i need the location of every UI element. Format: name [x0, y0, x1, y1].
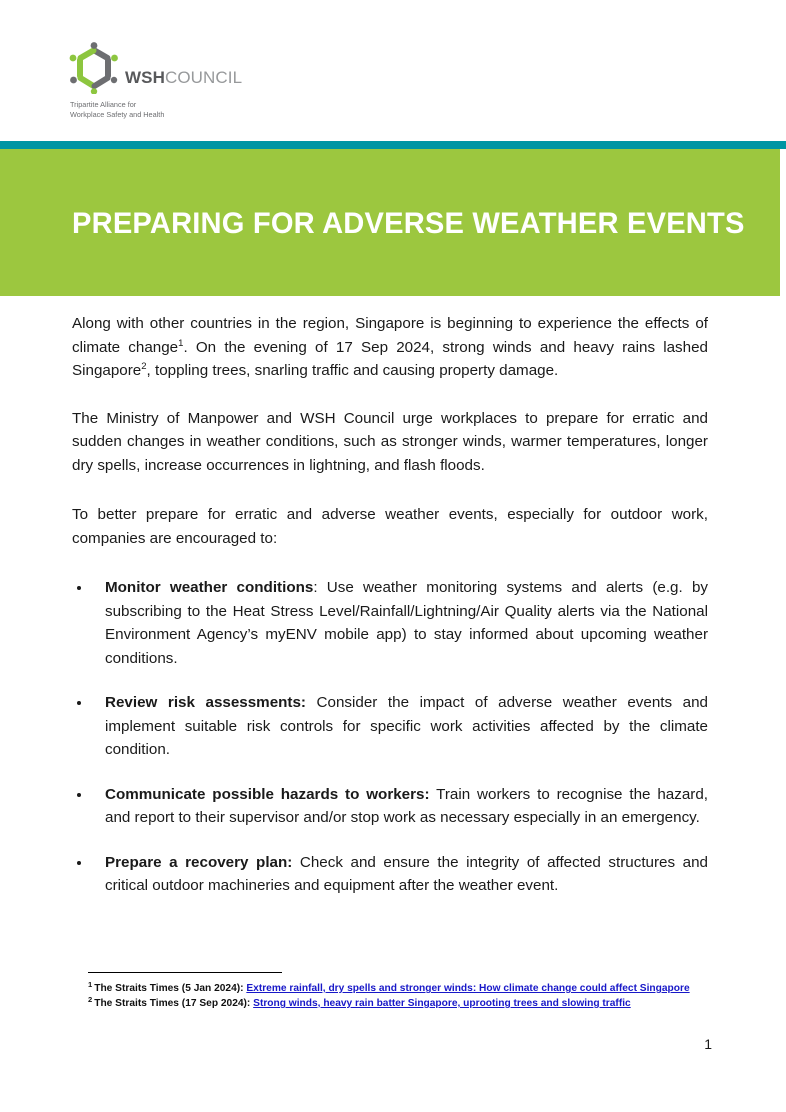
- teal-accent-bar: [0, 141, 786, 149]
- footnote-2-marker: 2: [88, 995, 92, 1004]
- footnote-1-link[interactable]: Extreme rainfall, dry spells and stronge…: [246, 983, 689, 994]
- logo-row: WSHCOUNCIL: [68, 38, 348, 94]
- footnote-1-marker: 1: [88, 980, 92, 989]
- footnote-1: 1The Straits Times (5 Jan 2024): Extreme…: [88, 981, 708, 996]
- wordmark-bold: WSH: [125, 68, 165, 87]
- document-body: Along with other countries in the region…: [72, 312, 708, 919]
- bullet-4-lead: Prepare a recovery plan:: [105, 854, 292, 871]
- bullet-2-lead: Review risk assessments:: [105, 694, 306, 711]
- encouragement-paragraph: To better prepare for erratic and advers…: [72, 503, 708, 550]
- bullet-3-lead: Communicate possible hazards to workers:: [105, 786, 430, 803]
- page-title: PREPARING FOR ADVERSE WEATHER EVENTS: [72, 207, 745, 241]
- logo-tagline: Tripartite Alliance for Workplace Safety…: [70, 100, 348, 119]
- footnote-2-source: The Straits Times (17 Sep 2024):: [94, 998, 253, 1009]
- wsh-council-hexagon-logo-icon: [68, 42, 120, 94]
- list-item: Communicate possible hazards to workers:…: [72, 783, 708, 830]
- tagline-line-1: Tripartite Alliance for: [70, 100, 348, 110]
- tagline-line-2: Workplace Safety and Health: [70, 110, 348, 120]
- wsh-council-wordmark: WSHCOUNCIL: [125, 69, 242, 87]
- footnote-2: 2The Straits Times (17 Sep 2024): Strong…: [88, 996, 708, 1011]
- bullet-1-lead: Monitor weather conditions: [105, 579, 313, 596]
- mom-wsh-paragraph: The Ministry of Manpower and WSH Council…: [72, 407, 708, 478]
- list-item: Prepare a recovery plan: Check and ensur…: [72, 851, 708, 898]
- footnote-2-link[interactable]: Strong winds, heavy rain batter Singapor…: [253, 998, 631, 1009]
- page-number: 1: [0, 1036, 712, 1052]
- footnotes-section: 1The Straits Times (5 Jan 2024): Extreme…: [88, 972, 708, 1011]
- intro-paragraph: Along with other countries in the region…: [72, 312, 708, 383]
- para1-part-c: , toppling trees, snarling traffic and c…: [147, 362, 559, 379]
- list-item: Monitor weather conditions: Use weather …: [72, 576, 708, 670]
- footnote-1-source: The Straits Times (5 Jan 2024):: [94, 983, 246, 994]
- list-item: Review risk assessments: Consider the im…: [72, 691, 708, 762]
- footnote-separator: [88, 972, 282, 973]
- document-header: WSHCOUNCIL Tripartite Alliance for Workp…: [0, 0, 786, 141]
- wsh-council-logo: WSHCOUNCIL Tripartite Alliance for Workp…: [68, 38, 348, 119]
- recommendations-list: Monitor weather conditions: Use weather …: [72, 576, 708, 898]
- wordmark-light: COUNCIL: [165, 68, 242, 87]
